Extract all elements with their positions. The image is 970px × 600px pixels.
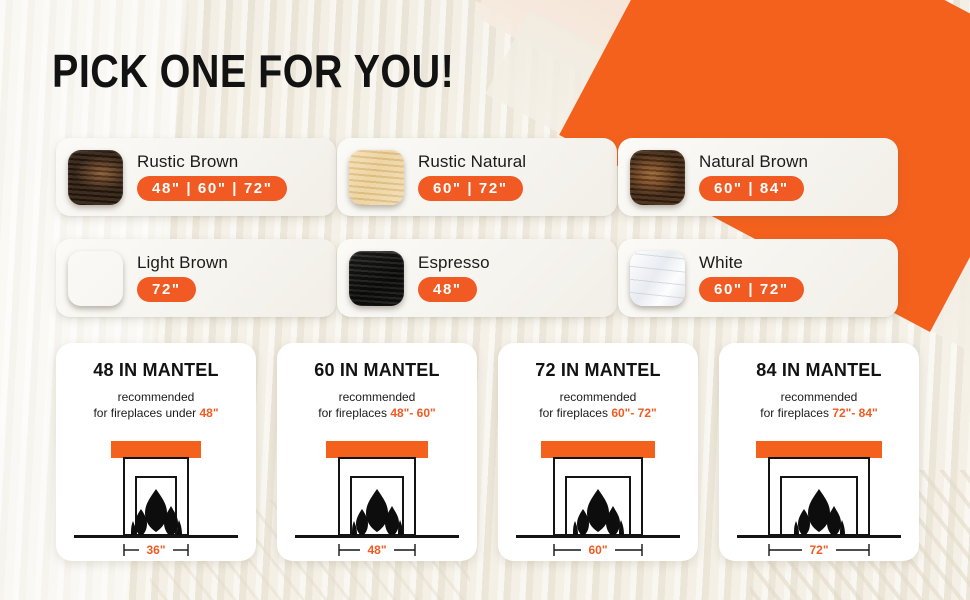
finish-size-pill[interactable]: 72" (137, 277, 196, 302)
finish-card-light-brown[interactable]: Light Brown72" (56, 239, 336, 317)
dimension-label: 48" (367, 543, 386, 556)
finish-text-block: Natural Brown60" | 84" (699, 153, 808, 201)
rec-prefix: for fireplaces (539, 406, 611, 420)
mantel-title: 72 IN MANTEL (535, 360, 660, 381)
wood-swatch-rustic-natural[interactable] (349, 150, 404, 205)
finish-size-pill[interactable]: 48" | 60" | 72" (137, 176, 287, 201)
wood-swatch-light-brown[interactable] (68, 251, 123, 306)
mantel-title: 48 IN MANTEL (93, 360, 218, 381)
mantel-card-48[interactable]: 48 IN MANTELrecommendedfor fireplaces un… (56, 343, 256, 561)
mantel-bar (111, 441, 201, 458)
dimension-label: 60" (588, 543, 607, 556)
finish-name: Rustic Natural (418, 153, 526, 171)
rec-line-1: recommended (118, 390, 195, 404)
mantel-card-84[interactable]: 84 IN MANTELrecommendedfor fireplaces 72… (719, 343, 919, 561)
finish-card-rustic-natural[interactable]: Rustic Natural60" | 72" (337, 138, 617, 216)
finish-size-pill[interactable]: 60" | 72" (418, 176, 523, 201)
page-title: PICK ONE FOR YOU! (52, 48, 454, 94)
rec-range: 48" (200, 406, 219, 420)
fireplace-diagram: 48" (287, 431, 467, 556)
fireplace-diagram: 60" (508, 431, 688, 556)
wood-swatch-white[interactable] (630, 251, 685, 306)
mantel-recommendation: recommendedfor fireplaces under 48" (93, 390, 218, 422)
mantel-figure: 72" (729, 431, 909, 561)
mantel-bar (756, 441, 882, 458)
mantel-title: 60 IN MANTEL (314, 360, 439, 381)
fireplace-diagram: 36" (66, 431, 246, 556)
rec-prefix: for fireplaces (318, 406, 390, 420)
finish-name: Light Brown (137, 254, 228, 272)
mantel-title: 84 IN MANTEL (756, 360, 881, 381)
finish-size-pill[interactable]: 60" | 84" (699, 176, 804, 201)
rec-range: 60"- 72" (611, 406, 656, 420)
finish-name: White (699, 254, 804, 272)
finish-size-pill[interactable]: 48" (418, 277, 477, 302)
floor-line (74, 535, 238, 538)
rec-prefix: for fireplaces (760, 406, 832, 420)
rec-range: 72"- 84" (832, 406, 877, 420)
rec-line-1: recommended (781, 390, 858, 404)
wood-swatch-rustic-brown[interactable] (68, 150, 123, 205)
mantel-card-72[interactable]: 72 IN MANTELrecommendedfor fireplaces 60… (498, 343, 698, 561)
mantel-recommendation: recommendedfor fireplaces 48"- 60" (318, 390, 435, 422)
dimension-label: 72" (809, 543, 828, 556)
finish-card-natural-brown[interactable]: Natural Brown60" | 84" (618, 138, 898, 216)
mantel-figure: 48" (287, 431, 467, 561)
mantel-size-row: 48 IN MANTELrecommendedfor fireplaces un… (56, 343, 919, 561)
finish-card-white[interactable]: White60" | 72" (618, 239, 898, 317)
fireplace-diagram: 72" (729, 431, 909, 556)
mantel-figure: 60" (508, 431, 688, 561)
infographic-canvas: PICK ONE FOR YOU! Rustic Brown48" | 60" … (0, 0, 970, 600)
floor-line (737, 535, 901, 538)
rec-line-1: recommended (560, 390, 637, 404)
rec-prefix: for fireplaces under (93, 406, 199, 420)
finish-card-espresso[interactable]: Espresso48" (337, 239, 617, 317)
finish-card-rustic-brown[interactable]: Rustic Brown48" | 60" | 72" (56, 138, 336, 216)
floor-line (516, 535, 680, 538)
dimension-label: 36" (146, 543, 165, 556)
finish-name: Rustic Brown (137, 153, 287, 171)
floor-line (295, 535, 459, 538)
finish-size-pill[interactable]: 60" | 72" (699, 277, 804, 302)
mantel-bar (541, 441, 655, 458)
mantel-recommendation: recommendedfor fireplaces 60"- 72" (539, 390, 656, 422)
rec-line-1: recommended (339, 390, 416, 404)
wood-swatch-natural-brown[interactable] (630, 150, 685, 205)
finish-text-block: Rustic Brown48" | 60" | 72" (137, 153, 287, 201)
finish-text-block: Rustic Natural60" | 72" (418, 153, 526, 201)
finish-text-block: Espresso48" (418, 254, 490, 302)
mantel-card-60[interactable]: 60 IN MANTELrecommendedfor fireplaces 48… (277, 343, 477, 561)
finish-text-block: Light Brown72" (137, 254, 228, 302)
mantel-bar (326, 441, 428, 458)
finish-swatch-grid: Rustic Brown48" | 60" | 72"Rustic Natura… (56, 138, 920, 317)
finish-name: Espresso (418, 254, 490, 272)
mantel-figure: 36" (66, 431, 246, 561)
rec-range: 48"- 60" (390, 406, 435, 420)
finish-name: Natural Brown (699, 153, 808, 171)
mantel-recommendation: recommendedfor fireplaces 72"- 84" (760, 390, 877, 422)
finish-text-block: White60" | 72" (699, 254, 804, 302)
wood-swatch-espresso[interactable] (349, 251, 404, 306)
